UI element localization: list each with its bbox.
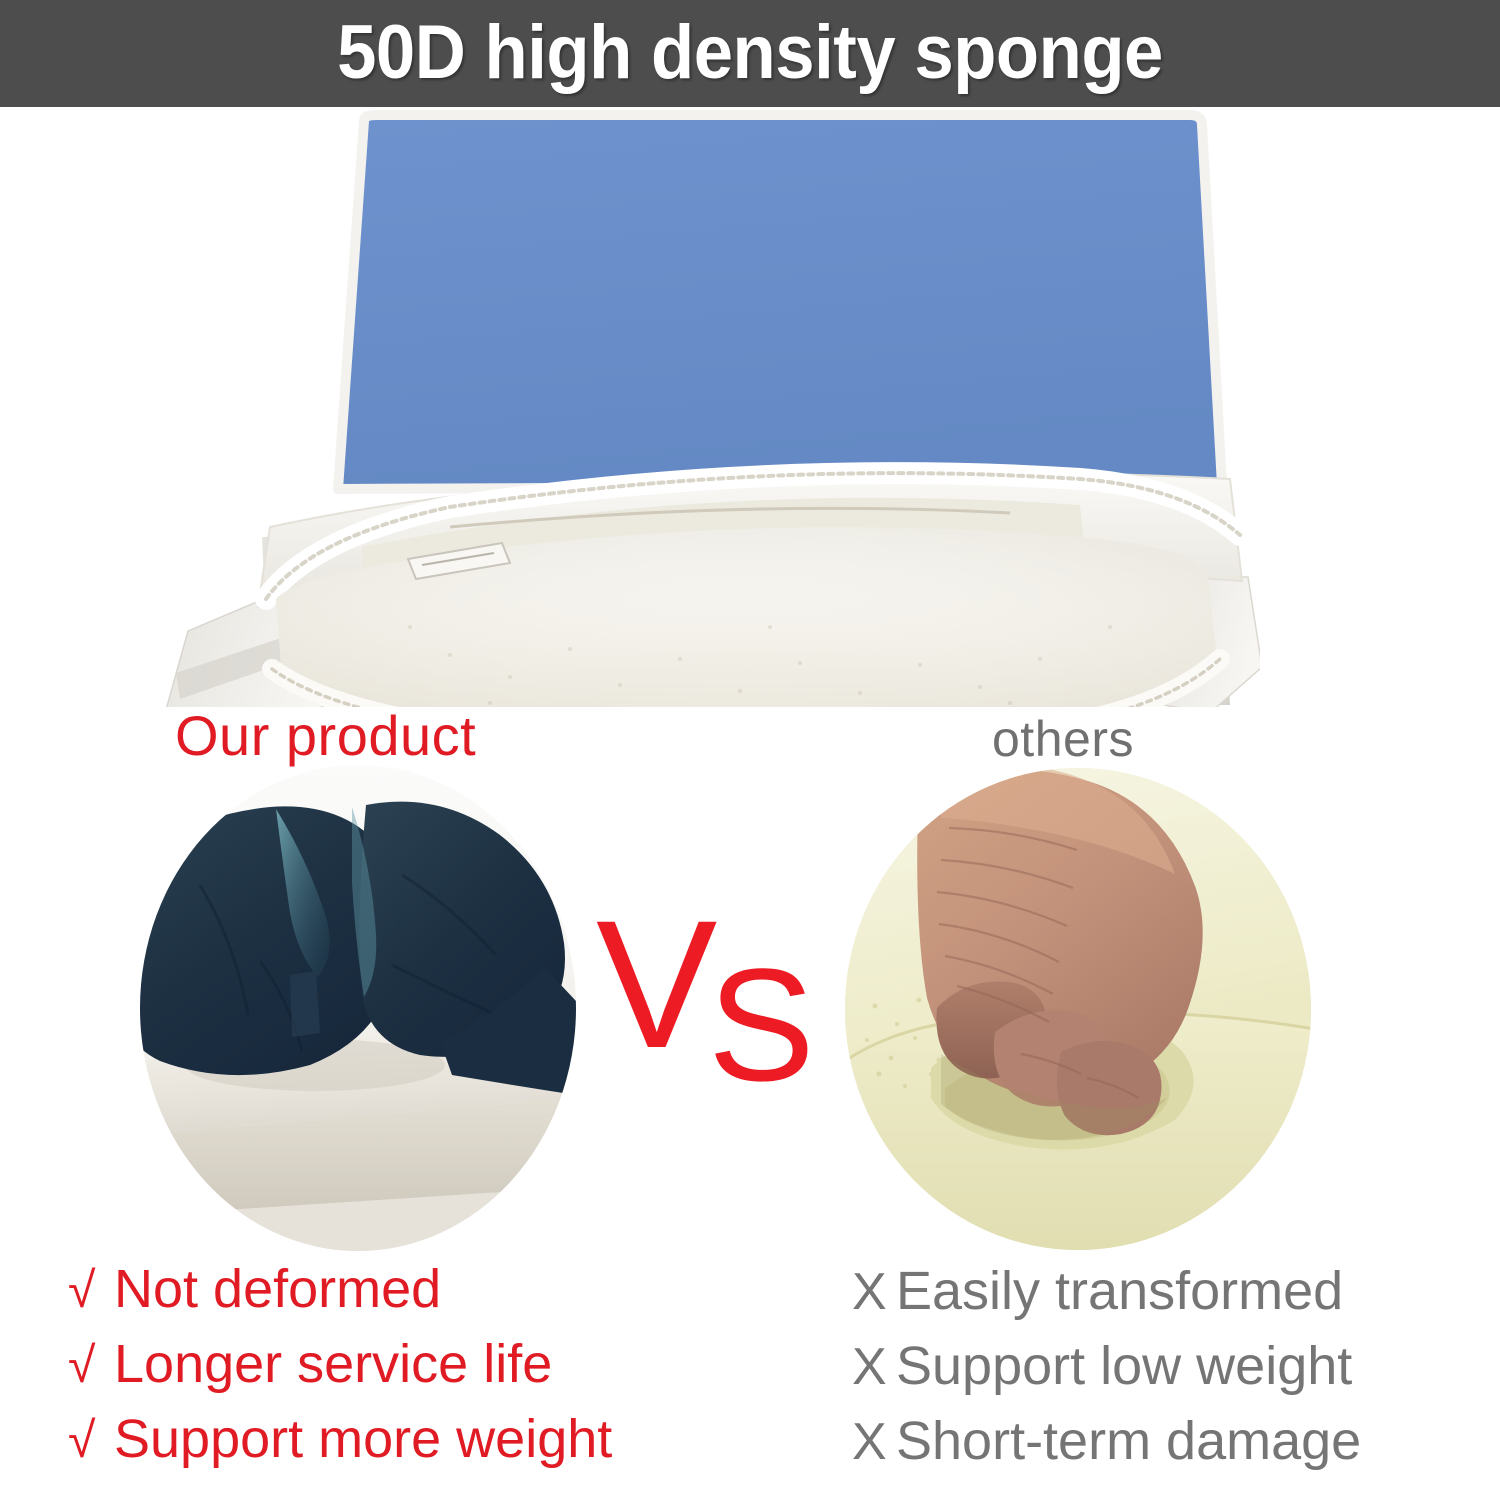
list-item-label: Easily transformed bbox=[896, 1254, 1343, 1328]
trouser-pocket-fold bbox=[290, 971, 320, 1037]
kneeling-on-mat-illustration bbox=[140, 765, 576, 1251]
our-product-benefit-list: √ Not deformed √ Longer service life √ S… bbox=[68, 1252, 748, 1477]
cross-icon: X bbox=[852, 1405, 896, 1479]
check-icon: √ bbox=[68, 1328, 114, 1402]
vs-letter-v: V bbox=[596, 893, 717, 1075]
list-item-label: Short-term damage bbox=[896, 1404, 1361, 1478]
list-item: X Short-term damage bbox=[852, 1404, 1472, 1479]
our-product-label: Our product bbox=[175, 703, 476, 768]
list-item-label: Longer service life bbox=[114, 1327, 552, 1401]
list-item: X Support low weight bbox=[852, 1329, 1472, 1404]
list-item-label: Support more weight bbox=[114, 1402, 612, 1476]
vs-letter-s: S bbox=[708, 945, 815, 1105]
list-item: √ Not deformed bbox=[68, 1252, 748, 1327]
hero-product-photo bbox=[150, 107, 1260, 707]
others-photo bbox=[845, 768, 1311, 1250]
vs-badge: V S bbox=[596, 893, 806, 1103]
list-item: √ Support more weight bbox=[68, 1402, 748, 1477]
header-banner: 50D high density sponge bbox=[0, 0, 1500, 107]
others-drawback-list: X Easily transformed X Support low weigh… bbox=[852, 1254, 1472, 1479]
check-icon: √ bbox=[68, 1253, 114, 1327]
mattress-blue-top-surface bbox=[338, 115, 1222, 489]
list-item: √ Longer service life bbox=[68, 1327, 748, 1402]
our-product-photo bbox=[140, 765, 576, 1251]
list-item-label: Support low weight bbox=[896, 1329, 1352, 1403]
cross-icon: X bbox=[852, 1255, 896, 1329]
page-title: 50D high density sponge bbox=[337, 15, 1163, 91]
cross-icon: X bbox=[852, 1330, 896, 1404]
others-label: others bbox=[992, 710, 1134, 768]
check-icon: √ bbox=[68, 1403, 114, 1477]
hand-pressing-foam-illustration bbox=[845, 768, 1311, 1250]
list-item: X Easily transformed bbox=[852, 1254, 1472, 1329]
list-item-label: Not deformed bbox=[114, 1252, 441, 1326]
hero-product-illustration bbox=[150, 107, 1260, 707]
